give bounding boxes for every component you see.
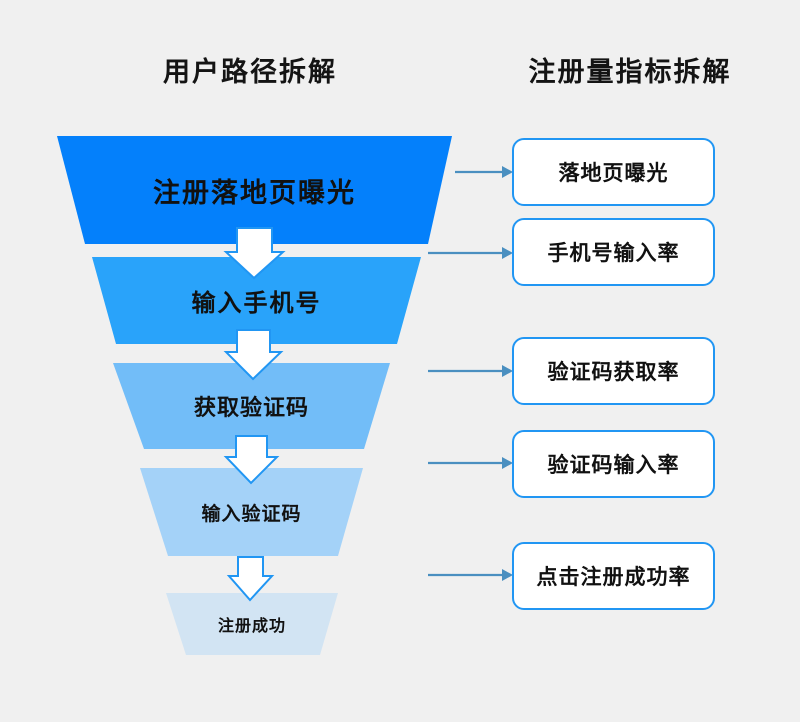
funnel-stage-3[interactable]: 获取验证码: [113, 363, 390, 449]
link-arrow-3: [428, 365, 513, 377]
metric-box-code-input-rate[interactable]: 验证码输入率: [512, 430, 715, 498]
metric-box-label-1: 落地页曝光: [559, 157, 669, 187]
funnel-stage-2[interactable]: 输入手机号: [92, 257, 421, 344]
metric-box-landing-page-exposure[interactable]: 落地页曝光: [512, 138, 715, 206]
funnel-stage-4[interactable]: 输入验证码: [140, 468, 363, 556]
metric-box-label-3: 验证码获取率: [548, 356, 680, 386]
diagram-canvas: 用户路径拆解 注册量指标拆解: [0, 0, 800, 722]
metric-box-label-5: 点击注册成功率: [537, 561, 691, 591]
metric-box-code-request-rate[interactable]: 验证码获取率: [512, 337, 715, 405]
page-title-left: 用户路径拆解: [0, 50, 500, 89]
funnel-stage-label-4: 输入验证码: [201, 499, 301, 526]
link-arrow-1: [455, 166, 513, 178]
metric-box-register-success-rate[interactable]: 点击注册成功率: [512, 542, 715, 610]
link-arrow-4: [428, 457, 513, 469]
link-arrow-2: [428, 247, 513, 259]
funnel-stage-label-1: 注册落地页曝光: [153, 171, 356, 210]
metric-box-label-4: 验证码输入率: [548, 449, 680, 479]
metric-box-phone-input-rate[interactable]: 手机号输入率: [512, 218, 715, 286]
metric-box-label-2: 手机号输入率: [548, 237, 680, 267]
funnel-stage-5[interactable]: 注册成功: [166, 593, 338, 655]
page-title-right: 注册量指标拆解: [460, 50, 800, 89]
funnel-stage-1[interactable]: 注册落地页曝光: [57, 136, 452, 244]
funnel-stage-label-5: 注册成功: [218, 612, 286, 636]
link-arrow-5: [428, 569, 513, 581]
funnel-stage-label-3: 获取验证码: [194, 390, 309, 422]
funnel-stage-label-2: 输入手机号: [192, 283, 322, 318]
